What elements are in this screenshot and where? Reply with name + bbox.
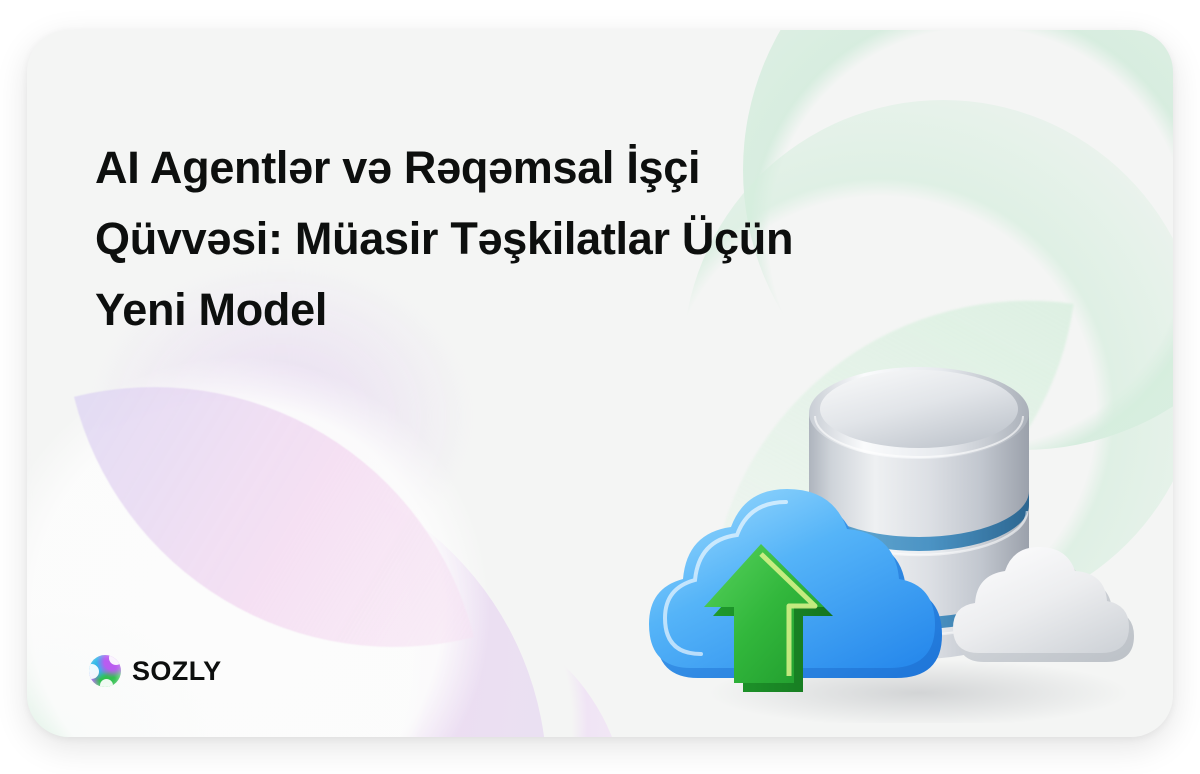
arc-shape-small [207,605,627,737]
cloud-database-upload-illustration [619,283,1139,723]
arc-shape-large [27,460,547,737]
brand-logo[interactable]: SOZLY [89,655,222,687]
gradient-sphere-icon [89,655,121,687]
hero-card: AI Agentlər və Rəqəmsal İşçi Qüvvəsi: Mü… [27,30,1173,737]
brand-name: SOZLY [132,656,222,687]
